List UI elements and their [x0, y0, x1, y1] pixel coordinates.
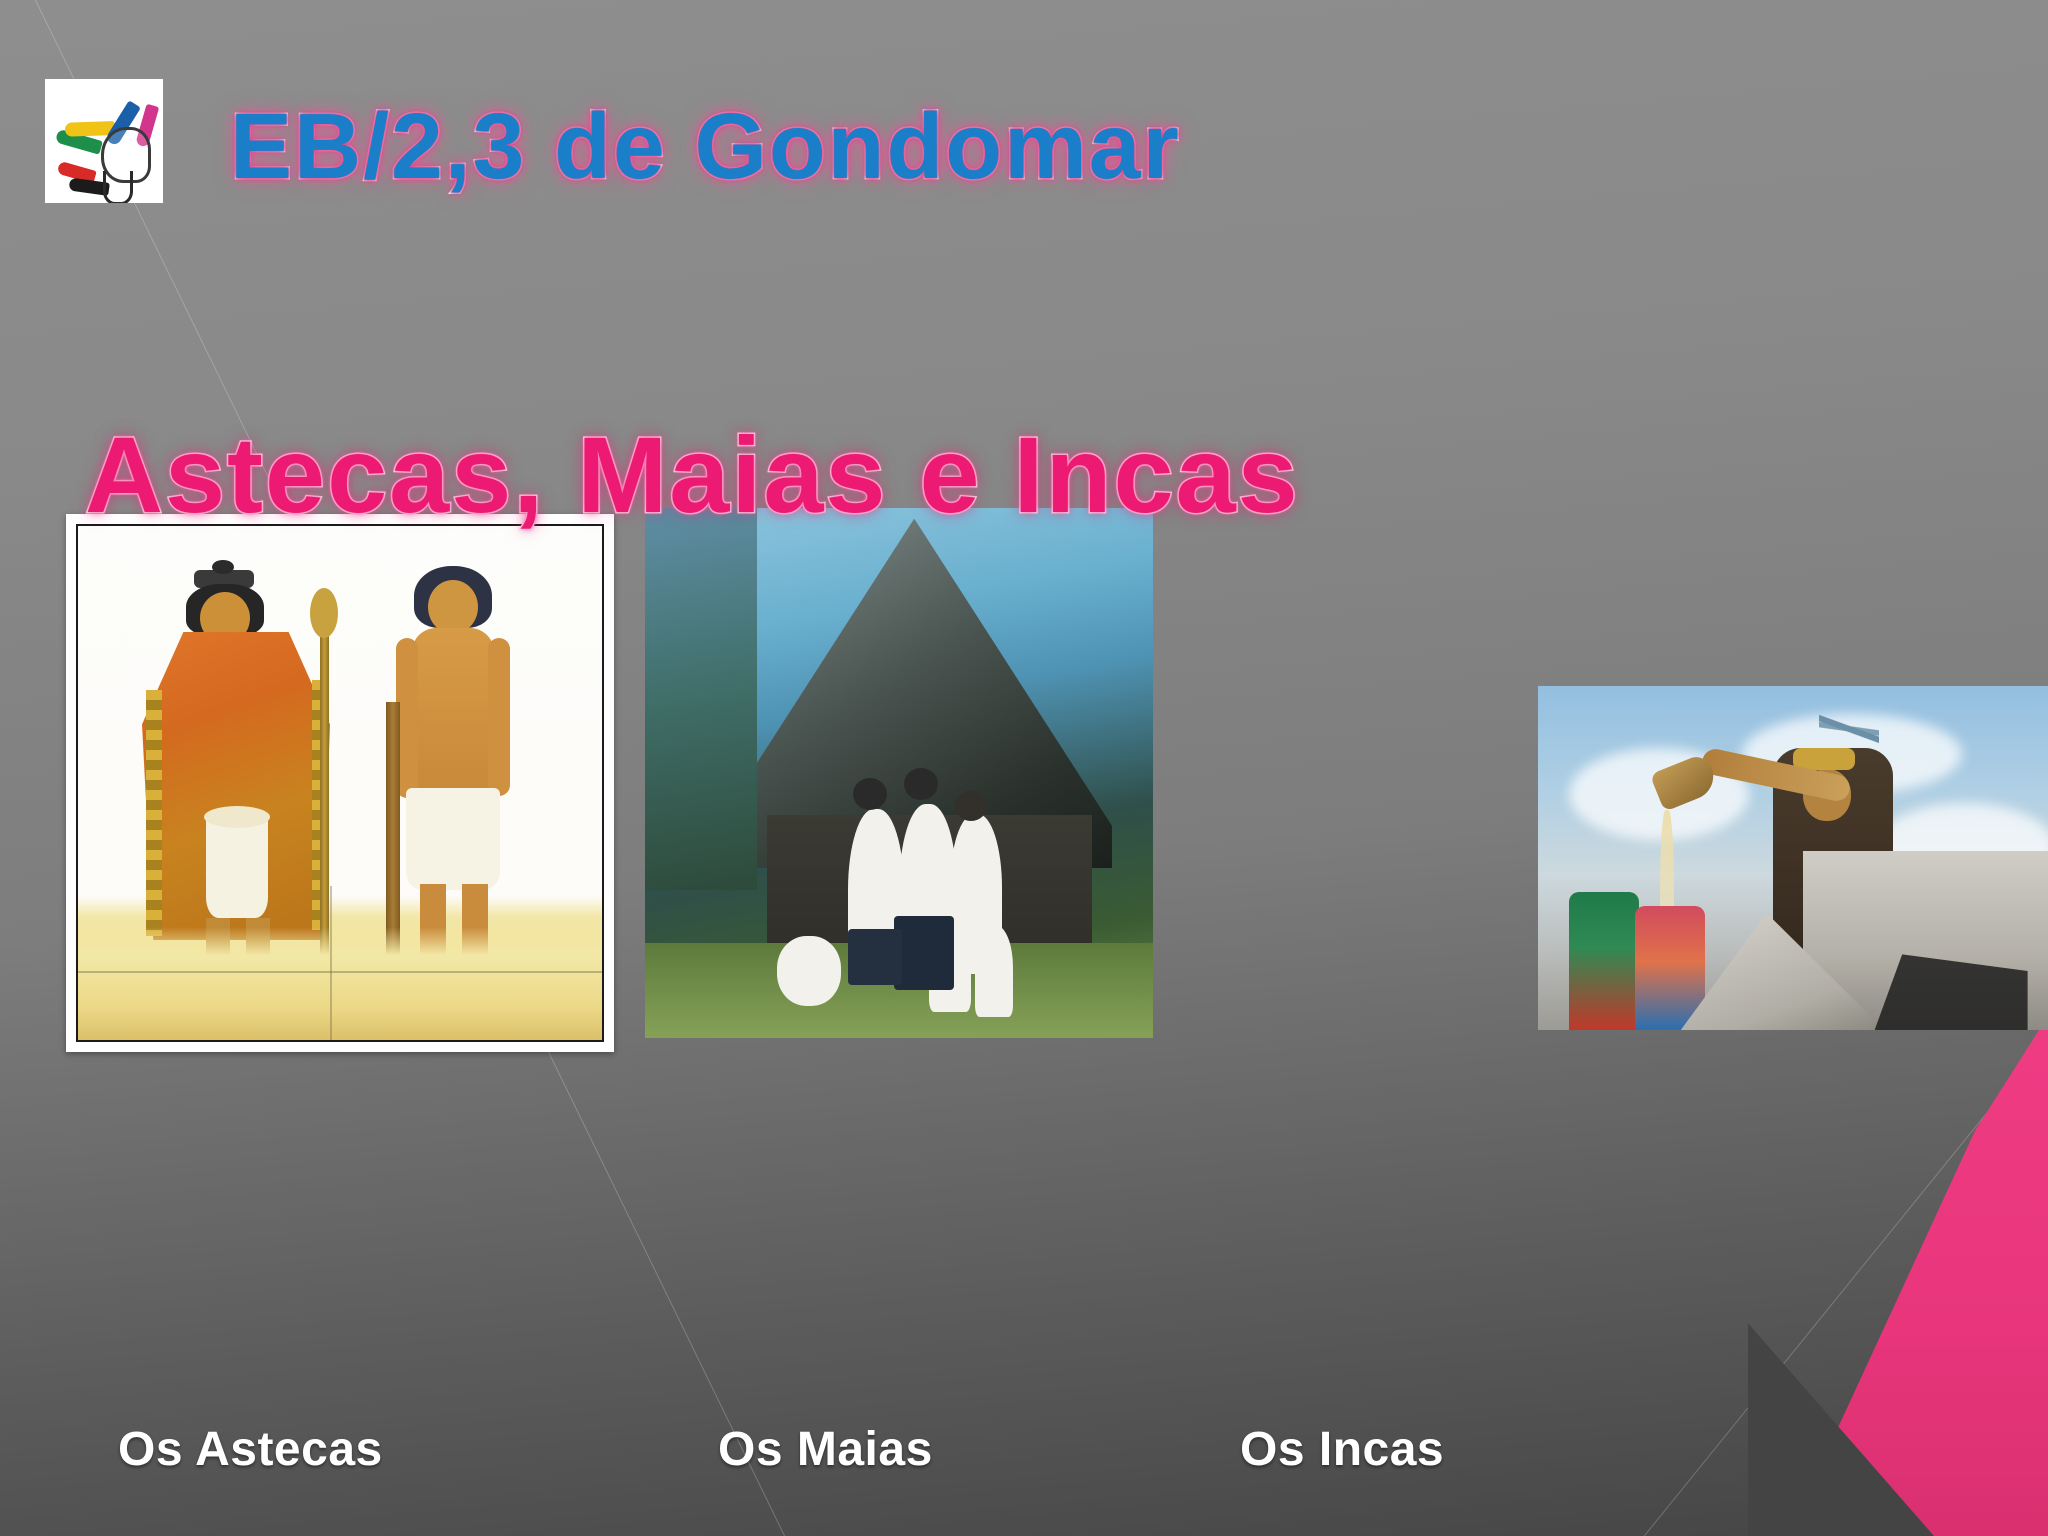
maias-skirt-1 [894, 916, 954, 990]
maias-head-2 [904, 768, 938, 800]
logo-artwork [45, 79, 163, 203]
maias-child-2 [975, 925, 1013, 1017]
caption-astecas: Os Astecas [118, 1422, 383, 1477]
presentation-slide: EB/2,3 de Gondomar Astecas, Maias e Inca… [0, 0, 2048, 1536]
astecas-ground-line [78, 971, 602, 973]
picture-astecas[interactable] [66, 514, 614, 1052]
hand-wrist-icon [103, 171, 133, 203]
astecas-illustration [76, 524, 604, 1042]
maias-skirt-2 [848, 929, 902, 985]
maias-head-3 [955, 791, 987, 821]
incas-attendant-1 [1569, 892, 1639, 1030]
picture-maias[interactable] [645, 508, 1153, 1038]
astecas-ground [78, 927, 602, 1040]
maias-foliage [645, 508, 757, 890]
incas-feathers-icon [1819, 693, 1879, 763]
picture-incas[interactable] [1538, 686, 2048, 1030]
astecas-panel-divider [330, 886, 332, 1040]
caption-maias: Os Maias [718, 1422, 933, 1477]
page-title-subject: Astecas, Maias e Incas [85, 412, 2005, 537]
caption-incas: Os Incas [1240, 1422, 1444, 1477]
school-logo [45, 79, 163, 203]
incas-attendant-2 [1635, 906, 1705, 1030]
maias-person-seated [777, 936, 841, 1006]
page-title-school: EB/2,3 de Gondomar [230, 93, 1530, 200]
